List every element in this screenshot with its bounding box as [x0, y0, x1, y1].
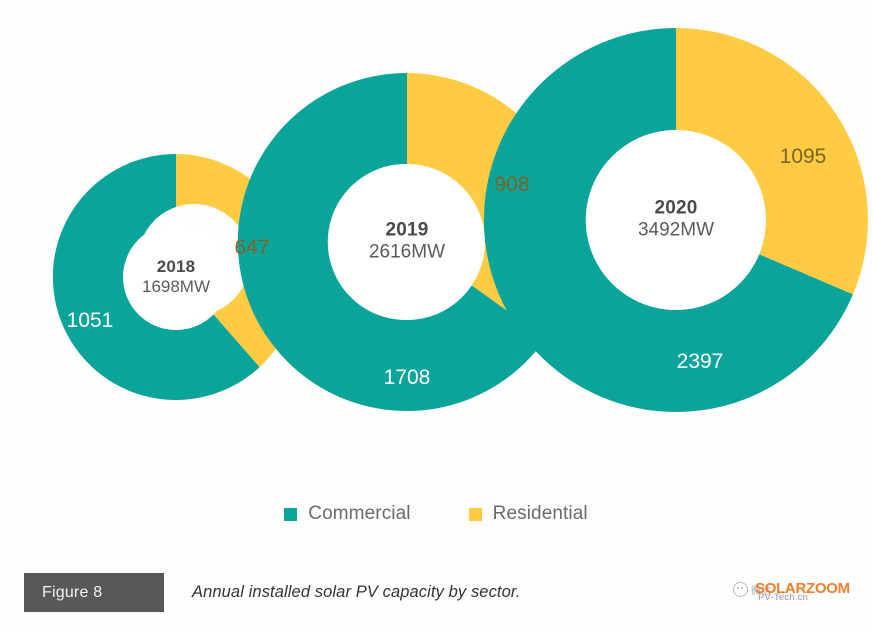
donut-2020-hole [586, 130, 766, 310]
legend-label-residential: Residential [493, 503, 588, 525]
legend-label-commercial: Commercial [308, 503, 410, 525]
watermark: 微信 SOLARZOOM PV-Tech.cn [733, 572, 865, 618]
legend-swatch-commercial-icon [284, 508, 297, 521]
donut-2020 [484, 28, 868, 412]
legend-item-commercial[interactable]: Commercial [284, 503, 410, 525]
wechat-icon [733, 582, 748, 597]
donut-2018-hole [123, 224, 229, 330]
chart-legend: Commercial Residential [0, 503, 872, 525]
figure-number-label: Figure 8 [42, 584, 102, 602]
figure-container: 2018 1698MW 2019 2616MW 2020 3492MW 1051… [0, 0, 872, 634]
legend-swatch-residential-icon [469, 508, 482, 521]
legend-item-residential[interactable]: Residential [469, 503, 588, 525]
figure-caption-row: Figure 8 Annual installed solar PV capac… [24, 573, 848, 612]
figure-caption-text: Annual installed solar PV capacity by se… [164, 573, 521, 612]
donut-chart-svg [0, 0, 872, 480]
donut-2019-hole [329, 164, 485, 320]
figure-number-tag: Figure 8 [24, 573, 164, 612]
donut-chart-group: 2018 1698MW 2019 2616MW 2020 3492MW 1051… [0, 0, 872, 480]
watermark-brand-sub: PV-Tech.cn [758, 592, 808, 603]
